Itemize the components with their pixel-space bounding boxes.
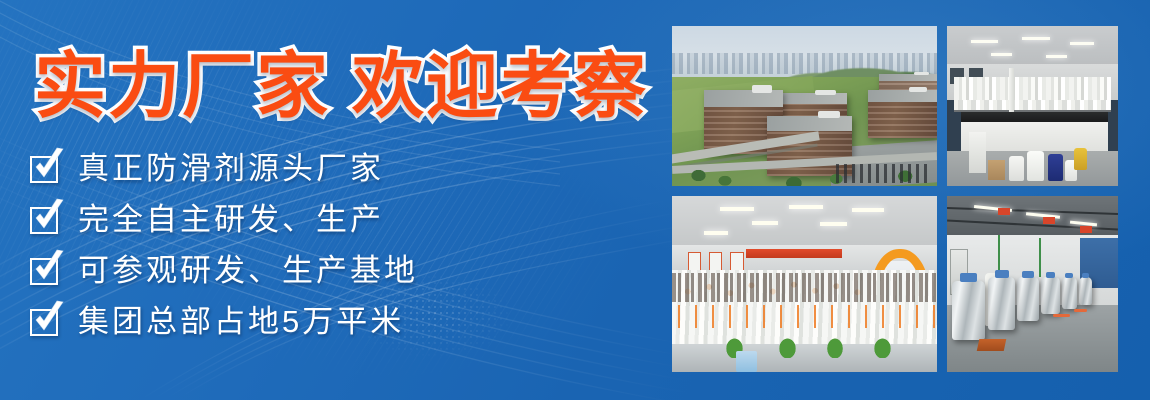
- checkbox-checked-icon: [30, 154, 60, 183]
- photo-campus-aerial: [672, 26, 937, 186]
- photo-production: [947, 196, 1118, 372]
- checkbox-checked-icon: [30, 307, 60, 336]
- photo-laboratory: [947, 26, 1118, 186]
- checkbox-checked-icon: [30, 205, 60, 234]
- list-item-label: 完全自主研发、生产: [78, 203, 384, 237]
- list-item: 完全自主研发、生产: [30, 195, 418, 244]
- photo-office-staff: [672, 196, 937, 372]
- photo-gallery: [672, 26, 1118, 372]
- checkbox-checked-icon: [30, 256, 60, 285]
- list-item-label: 真正防滑剂源头厂家: [78, 152, 384, 186]
- banner-headline: 实力厂家 欢迎考察: [34, 44, 648, 130]
- list-item: 可参观研发、生产基地: [30, 246, 418, 295]
- list-item-label: 集团总部占地5万平米: [78, 305, 404, 339]
- feature-bullet-list: 真正防滑剂源头厂家 完全自主研发、生产: [30, 144, 418, 348]
- banner-text-column: 实力厂家 欢迎考察 真正防滑剂源头厂家: [0, 0, 660, 400]
- list-item: 真正防滑剂源头厂家: [30, 144, 418, 193]
- list-item: 集团总部占地5万平米: [30, 297, 418, 346]
- promo-banner: 实力厂家 欢迎考察 真正防滑剂源头厂家: [0, 0, 1150, 400]
- list-item-label: 可参观研发、生产基地: [78, 254, 418, 288]
